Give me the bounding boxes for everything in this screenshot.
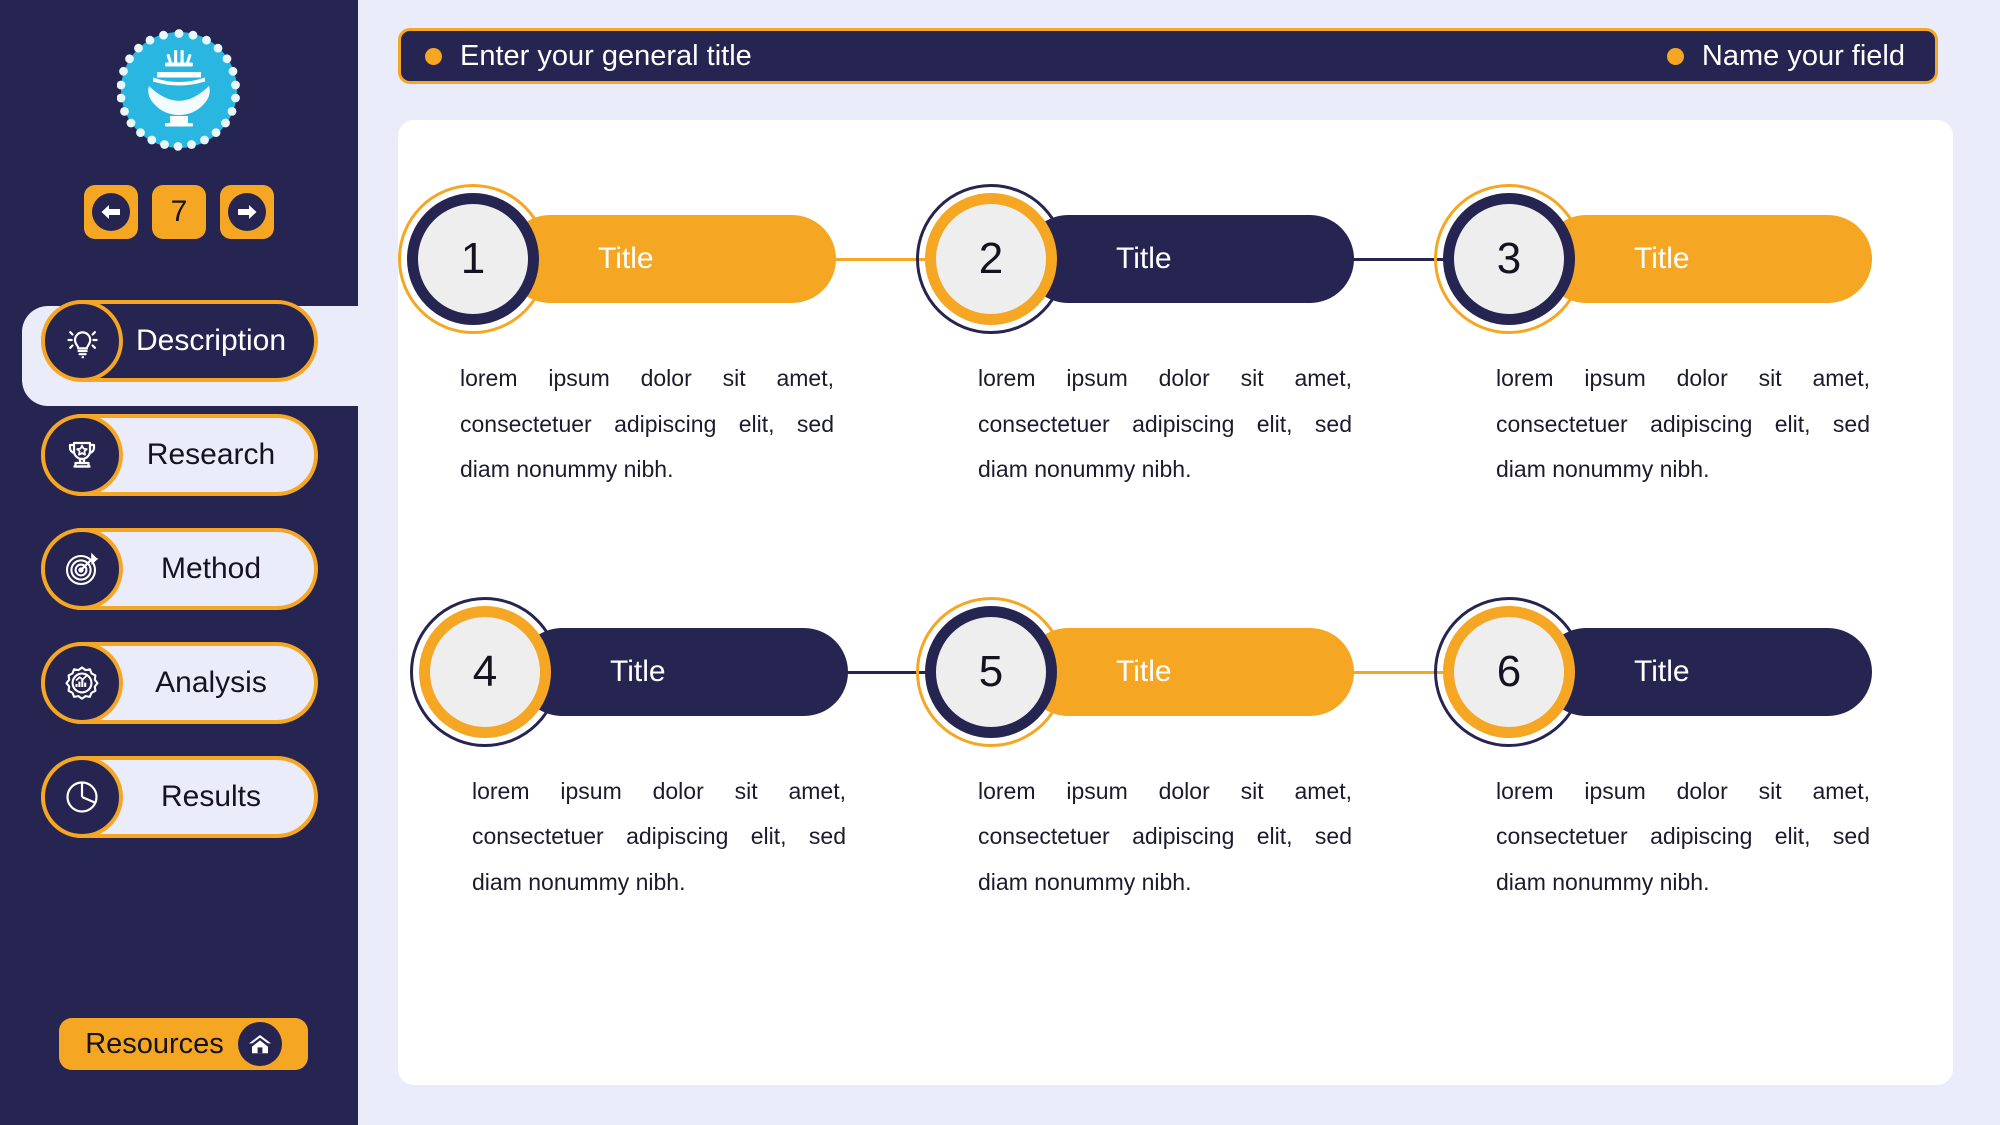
step-number: 4	[473, 650, 497, 694]
header-bar: Enter your general title Name your field	[398, 28, 1938, 84]
step-description: lorem ipsum dolor sit amet, consectetuer…	[970, 747, 1360, 906]
step-header: Title 4	[398, 597, 916, 747]
step-description: lorem ipsum dolor sit amet, consectetuer…	[1488, 334, 1878, 493]
step-item-4[interactable]: Title 4 lorem ipsum dolor sit amet, cons…	[398, 597, 916, 906]
content-canvas: Title 1 lorem ipsum dolor sit amet, cons…	[398, 120, 1953, 1085]
step-number: 3	[1497, 237, 1521, 281]
step-pill: Title	[1542, 628, 1872, 716]
prev-slide-button[interactable]	[84, 185, 138, 239]
step-number: 1	[461, 237, 485, 281]
step-item-6[interactable]: Title 6 lorem ipsum dolor sit amet, cons…	[1434, 597, 1952, 906]
step-ring-inner: 2	[925, 193, 1057, 325]
step-pill: Title	[1024, 628, 1354, 716]
gear-chart-icon	[41, 642, 123, 724]
pie-chart-icon	[41, 756, 123, 838]
step-number: 6	[1497, 650, 1521, 694]
general-title-text: Enter your general title	[460, 42, 752, 71]
step-ring-inner: 3	[1443, 193, 1575, 325]
sidebar-item-description[interactable]: Description	[41, 300, 318, 382]
steps-row: Title 1 lorem ipsum dolor sit amet, cons…	[398, 184, 1953, 493]
current-page-indicator[interactable]: 7	[152, 185, 206, 239]
logo-container	[0, 28, 358, 152]
step-description: lorem ipsum dolor sit amet, consectetuer…	[452, 334, 842, 493]
step-number: 2	[979, 237, 1003, 281]
slide-root: 7	[0, 0, 2000, 1125]
trophy-icon	[41, 414, 123, 496]
step-item-5[interactable]: Title 5 lorem ipsum dolor sit amet, cons…	[916, 597, 1434, 906]
resources-label: Resources	[85, 1030, 224, 1059]
step-item-2[interactable]: Title 2 lorem ipsum dolor sit amet, cons…	[916, 184, 1434, 493]
field-name-field[interactable]: Name your field	[1667, 42, 1905, 71]
university-of-tehran-logo	[117, 28, 241, 152]
sidebar-item-results[interactable]: Results	[41, 756, 318, 838]
resources-button[interactable]: Resources	[59, 1018, 308, 1070]
step-pill: Title	[518, 628, 848, 716]
step-number: 5	[979, 650, 1003, 694]
arrow-left-icon	[92, 193, 130, 231]
sidebar-item-method[interactable]: Method	[41, 528, 318, 610]
step-ring-inner: 6	[1443, 606, 1575, 738]
step-item-3[interactable]: Title 3 lorem ipsum dolor sit amet, cons…	[1434, 184, 1952, 493]
step-pill: Title	[506, 215, 836, 303]
dot-icon	[1667, 48, 1684, 65]
page-number: 7	[171, 197, 188, 227]
step-header: Title 2	[916, 184, 1434, 334]
steps-grid: Title 1 lorem ipsum dolor sit amet, cons…	[398, 120, 1953, 905]
step-header: Title 3	[1434, 184, 1952, 334]
step-item-1[interactable]: Title 1 lorem ipsum dolor sit amet, cons…	[398, 184, 916, 493]
home-icon	[238, 1022, 282, 1066]
general-title-field[interactable]: Enter your general title	[425, 42, 752, 71]
step-pill: Title	[1542, 215, 1872, 303]
step-ring-inner: 5	[925, 606, 1057, 738]
sidebar-item-analysis[interactable]: Analysis	[41, 642, 318, 724]
step-description: lorem ipsum dolor sit amet, consectetuer…	[1488, 747, 1878, 906]
step-ring-inner: 1	[407, 193, 539, 325]
step-ring-inner: 4	[419, 606, 551, 738]
step-header: Title 1	[398, 184, 916, 334]
step-header: Title 5	[916, 597, 1434, 747]
arrow-right-icon	[228, 193, 266, 231]
sidebar-item-research[interactable]: Research	[41, 414, 318, 496]
target-icon	[41, 528, 123, 610]
sidebar-menu: Description Research	[0, 300, 358, 870]
steps-row: Title 4 lorem ipsum dolor sit amet, cons…	[398, 597, 1953, 906]
sidebar: 7	[0, 0, 358, 1125]
step-description: lorem ipsum dolor sit amet, consectetuer…	[970, 334, 1360, 493]
step-description: lorem ipsum dolor sit amet, consectetuer…	[464, 747, 854, 906]
slide-pager: 7	[0, 185, 358, 239]
step-pill: Title	[1024, 215, 1354, 303]
lightbulb-icon	[41, 300, 123, 382]
next-slide-button[interactable]	[220, 185, 274, 239]
step-header: Title 6	[1434, 597, 1952, 747]
main-area: Enter your general title Name your field…	[358, 0, 2000, 1125]
dot-icon	[425, 48, 442, 65]
field-name-text: Name your field	[1702, 42, 1905, 71]
